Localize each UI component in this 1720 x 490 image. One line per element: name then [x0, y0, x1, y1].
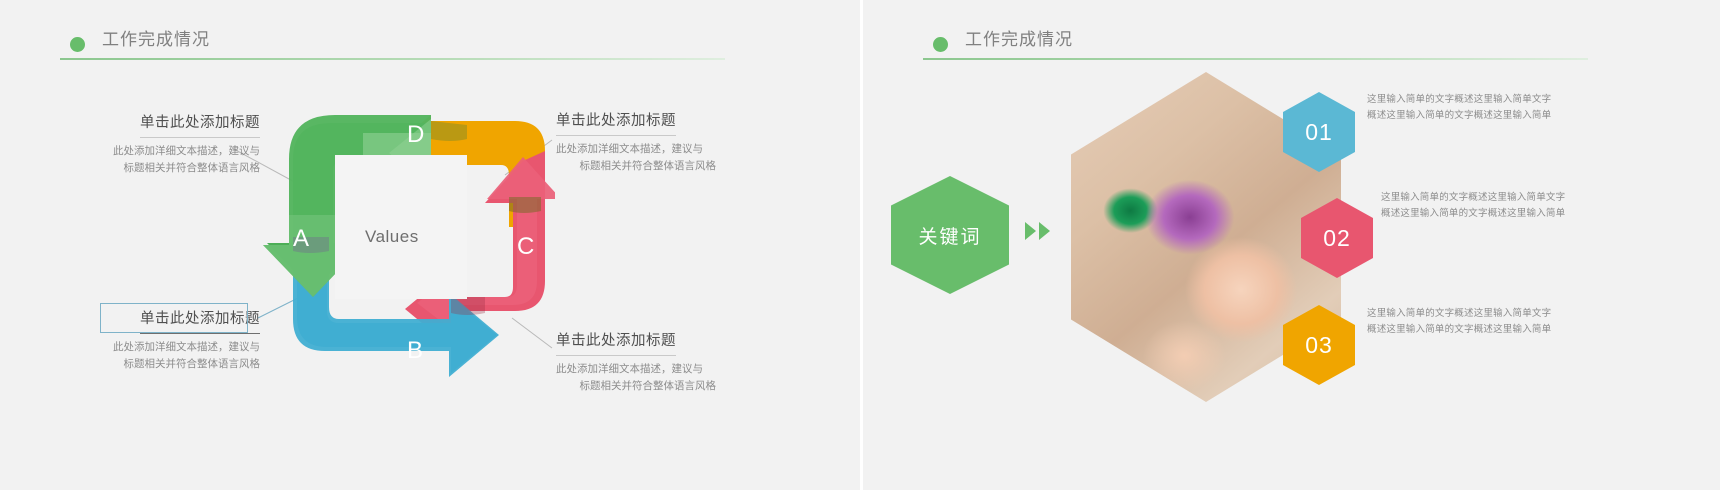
callout-body-line1: 此处添加洋细文本描述，建议与	[556, 141, 716, 158]
slide-header-left: 工作完成情况	[60, 28, 760, 68]
keyword-hexagon-label: 关键词	[918, 222, 981, 249]
callout-top-right[interactable]: 单击此处添加标题 此处添加洋细文本描述，建议与 标题相关并符合整体语言风格	[556, 110, 716, 175]
shadow-nub-bottom	[451, 297, 485, 315]
item-text-03: 这里输入简单的文字概述这里输入简单文字概述这里输入简单的文字概述这里输入简单	[1367, 306, 1557, 337]
diagram-center-label: Values	[365, 227, 419, 247]
item-hexagon-02[interactable]: 02	[1301, 198, 1373, 278]
item-hexagon-03[interactable]: 03	[1283, 305, 1355, 385]
callout-body-line1: 此处添加洋细文本描述，建议与	[556, 361, 716, 378]
callout-top-left[interactable]: 单击此处添加标题 此处添加洋细文本描述，建议与 标题相关并符合整体语言风格	[108, 112, 260, 177]
chevron-arrows-icon	[1025, 222, 1050, 240]
page-title: 工作完成情况	[965, 28, 1073, 52]
selection-box[interactable]	[100, 303, 248, 333]
callout-title[interactable]: 单击此处添加标题	[140, 112, 260, 138]
item-number-label: 01	[1305, 119, 1333, 146]
arrow-label-c: C	[517, 233, 534, 261]
arrow-label-d: D	[407, 121, 424, 149]
item-text-02: 这里输入简单的文字概述这里输入简单文字概述这里输入简单的文字概述这里输入简单	[1381, 190, 1571, 221]
slide-deck: 工作完成情况	[0, 0, 1720, 490]
item-number-label: 03	[1305, 332, 1333, 359]
page-title: 工作完成情况	[102, 28, 210, 52]
callout-bottom-left[interactable]: 单击此处添加标题 此处添加洋细文本描述，建议与 标题相关并符合整体语言风格	[108, 308, 260, 373]
callout-bottom-right[interactable]: 单击此处添加标题 此处添加洋细文本描述，建议与 标题相关并符合整体语言风格	[556, 330, 716, 395]
header-divider	[60, 58, 725, 60]
callout-body-line1: 此处添加洋细文本描述，建议与	[108, 143, 260, 160]
slide-header-right: 工作完成情况	[923, 28, 1623, 68]
callout-body-line1: 此处添加洋细文本描述，建议与	[108, 339, 260, 356]
keyword-hexagon[interactable]: 关键词	[891, 176, 1009, 294]
callout-body-line2: 标题相关并符合整体语言风格	[556, 378, 716, 395]
bullet-dot-icon	[70, 37, 85, 52]
shadow-nub-right	[509, 197, 541, 213]
callout-title[interactable]: 单击此处添加标题	[556, 330, 676, 356]
callout-body-line2: 标题相关并符合整体语言风格	[108, 356, 260, 373]
cycle-diagram[interactable]: A B C D Values	[255, 85, 555, 385]
slide-left[interactable]: 工作完成情况	[0, 0, 860, 490]
callout-body-line2: 标题相关并符合整体语言风格	[108, 160, 260, 177]
item-number-label: 02	[1323, 225, 1351, 252]
header-divider	[923, 58, 1588, 60]
callout-title[interactable]: 单击此处添加标题	[556, 110, 676, 136]
arrow-label-a: A	[293, 225, 309, 253]
arrow-label-b: B	[407, 337, 423, 365]
slide-right[interactable]: 工作完成情况 关键词 01 0	[860, 0, 1720, 490]
bullet-dot-icon	[933, 37, 948, 52]
item-hexagon-01[interactable]: 01	[1283, 92, 1355, 172]
item-text-01: 这里输入简单的文字概述这里输入简单文字概述这里输入简单的文字概述这里输入简单	[1367, 92, 1557, 123]
callout-body-line2: 标题相关并符合整体语言风格	[556, 158, 716, 175]
